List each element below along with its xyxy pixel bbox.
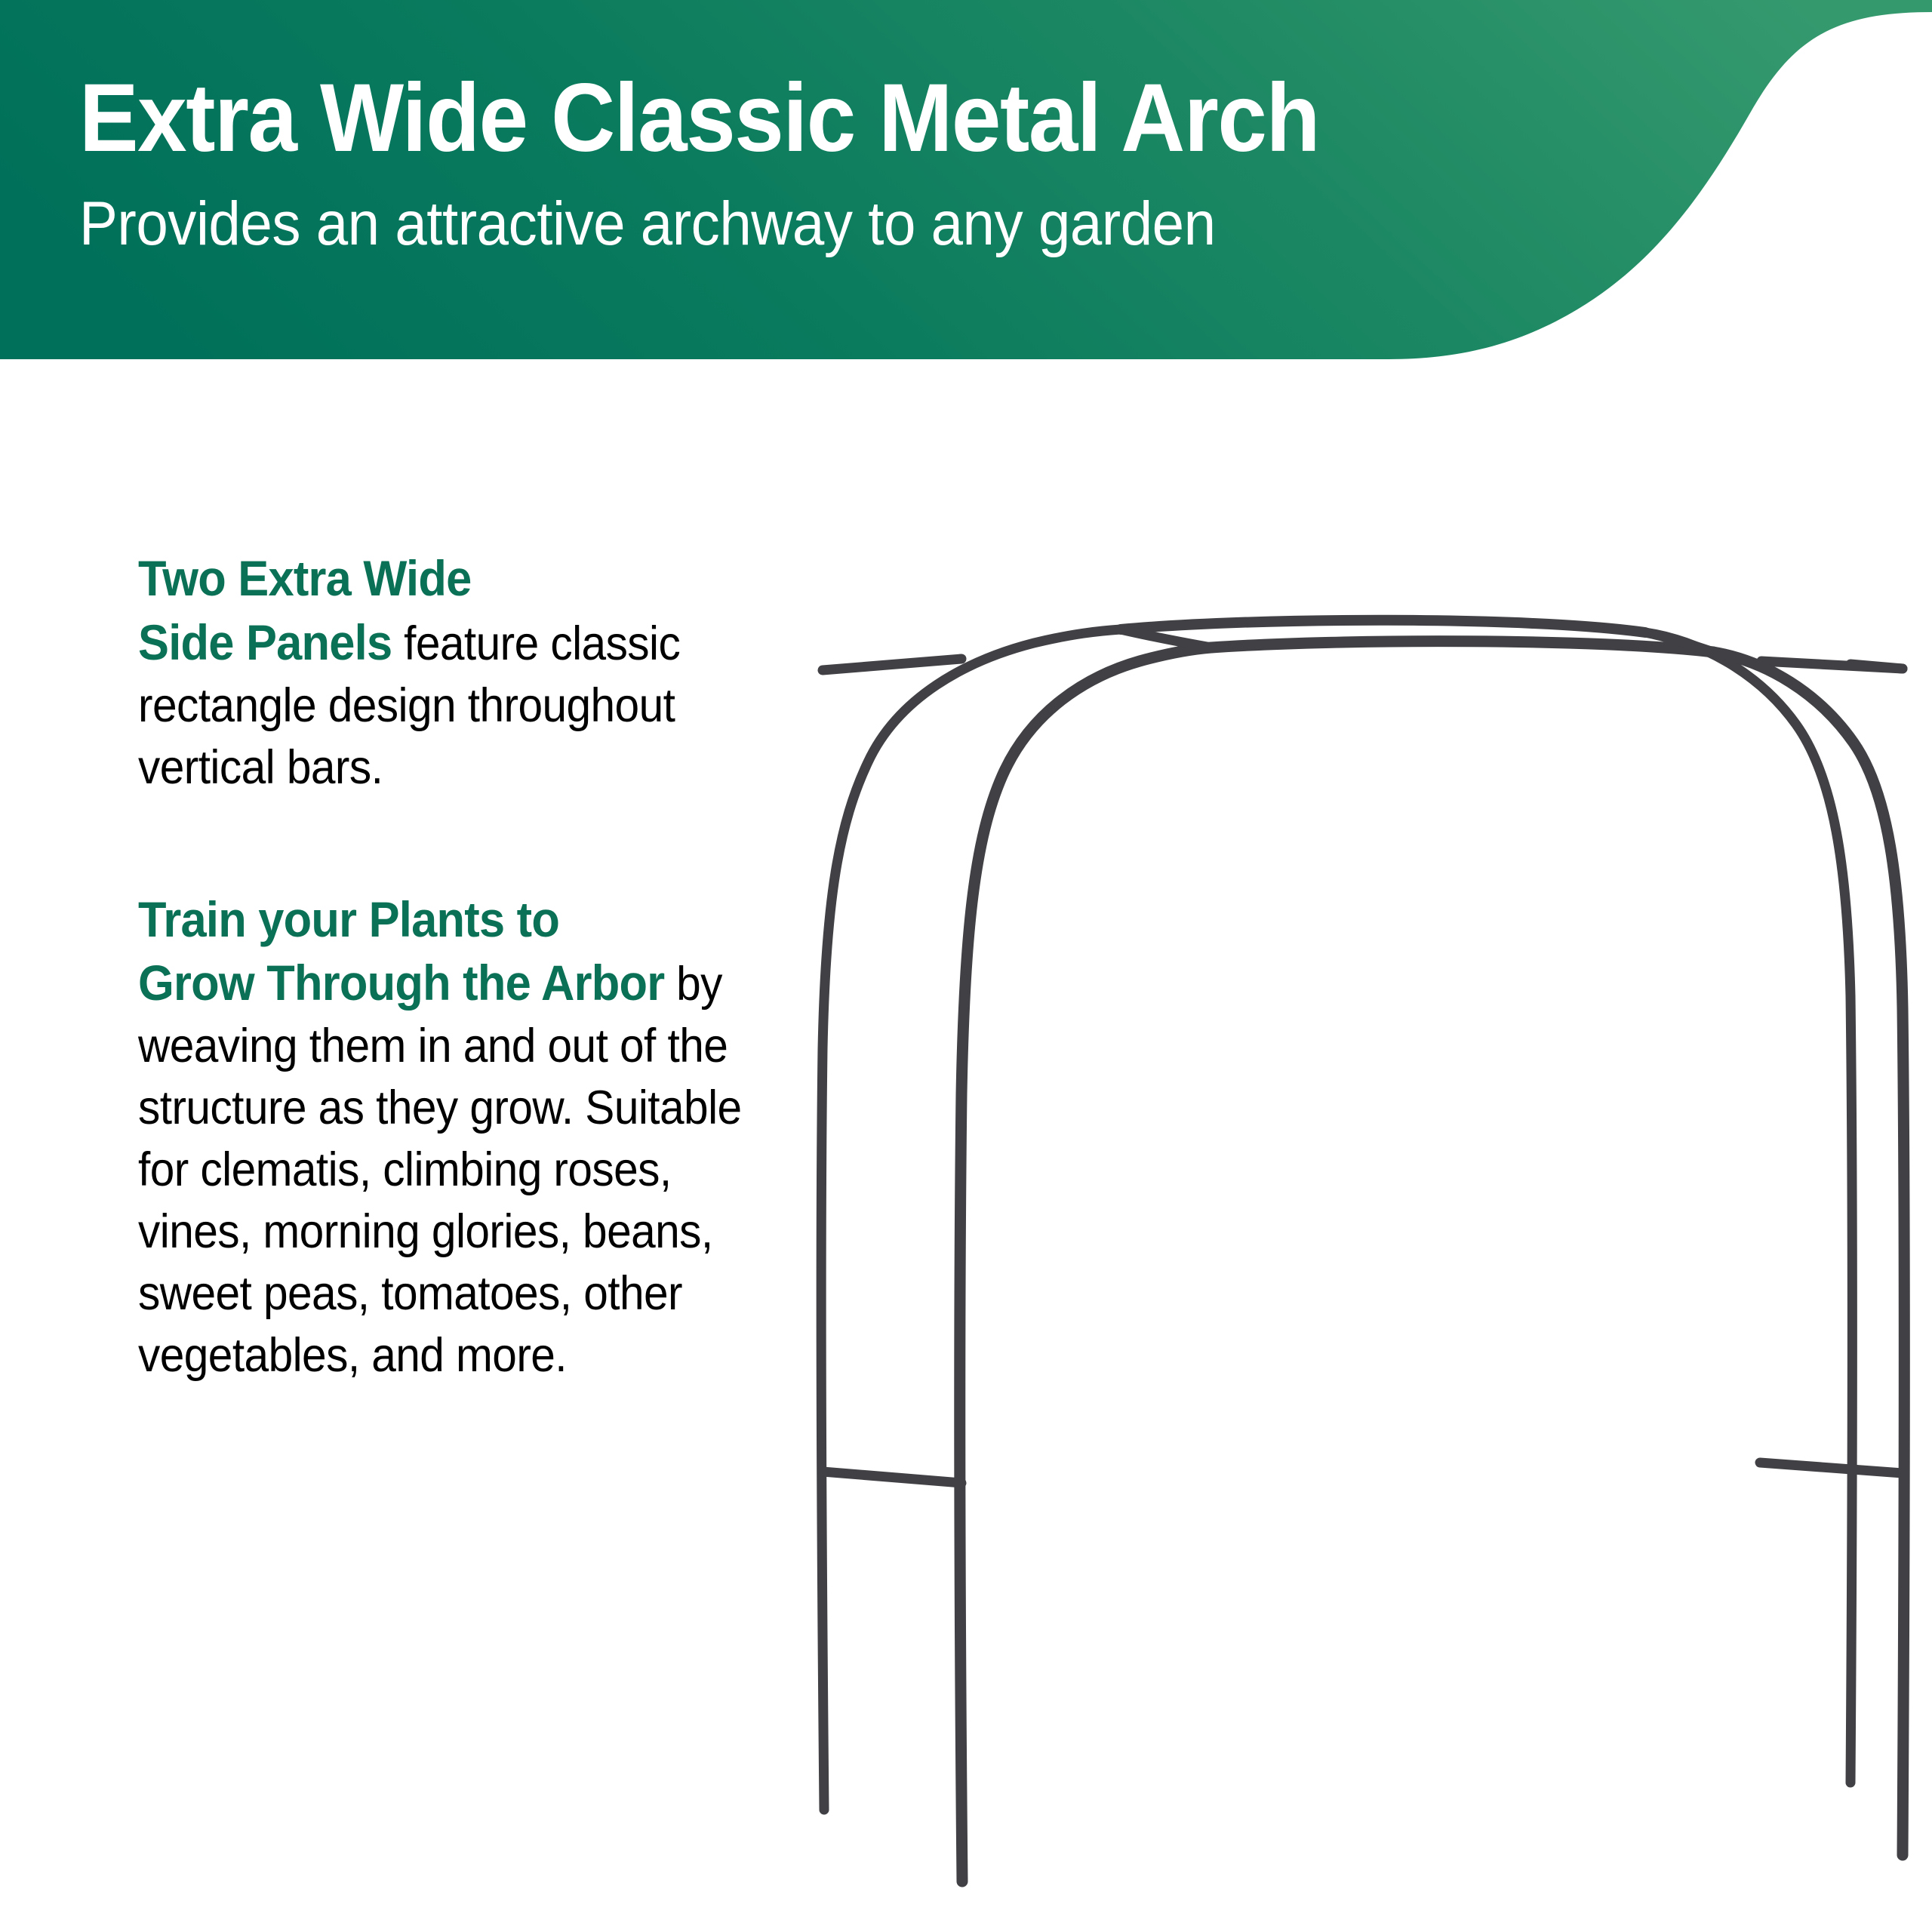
feature-heading-line-1: Two Extra Wide bbox=[138, 550, 471, 606]
feature-paragraph: Two Extra Wide Side Panels feature class… bbox=[138, 547, 791, 799]
product-infographic-page: Extra Wide Classic Metal Arch Provides a… bbox=[0, 0, 1932, 1932]
front-left-leg bbox=[960, 648, 1211, 1881]
front-arch-top-bar bbox=[1211, 641, 1713, 652]
page-title: Extra Wide Classic Metal Arch bbox=[79, 66, 1398, 171]
top-connector-bar-left bbox=[1121, 629, 1211, 648]
feature-heading-line-2: Grow Through the Arbor bbox=[138, 955, 664, 1011]
header-text-block: Extra Wide Classic Metal Arch Provides a… bbox=[79, 66, 1513, 258]
feature-block-side-panels: Two Extra Wide Side Panels feature class… bbox=[138, 547, 840, 799]
back-left-leg bbox=[821, 629, 1121, 1810]
feature-heading-line-2: Side Panels bbox=[138, 614, 392, 670]
left-panel-upper-crossbar bbox=[823, 659, 961, 670]
left-panel-lower-crossbar bbox=[823, 1472, 961, 1483]
back-right-leg bbox=[1645, 632, 1852, 1783]
arch-illustration bbox=[785, 370, 1932, 1932]
page-subtitle: Provides an attractive archway to any ga… bbox=[79, 190, 1413, 258]
right-panel-lower-crossbar bbox=[1760, 1463, 1903, 1473]
feature-paragraph: Train your Plants to Grow Through the Ar… bbox=[138, 888, 791, 1387]
front-right-leg bbox=[1713, 652, 1904, 1855]
feature-block-train-plants: Train your Plants to Grow Through the Ar… bbox=[138, 888, 840, 1387]
feature-column: Two Extra Wide Side Panels feature class… bbox=[138, 547, 840, 1387]
back-arch-top-bar bbox=[1121, 620, 1645, 632]
feature-body-text: by weaving them in and out of the struct… bbox=[138, 958, 742, 1381]
feature-heading-line-1: Train your Plants to bbox=[138, 891, 559, 947]
